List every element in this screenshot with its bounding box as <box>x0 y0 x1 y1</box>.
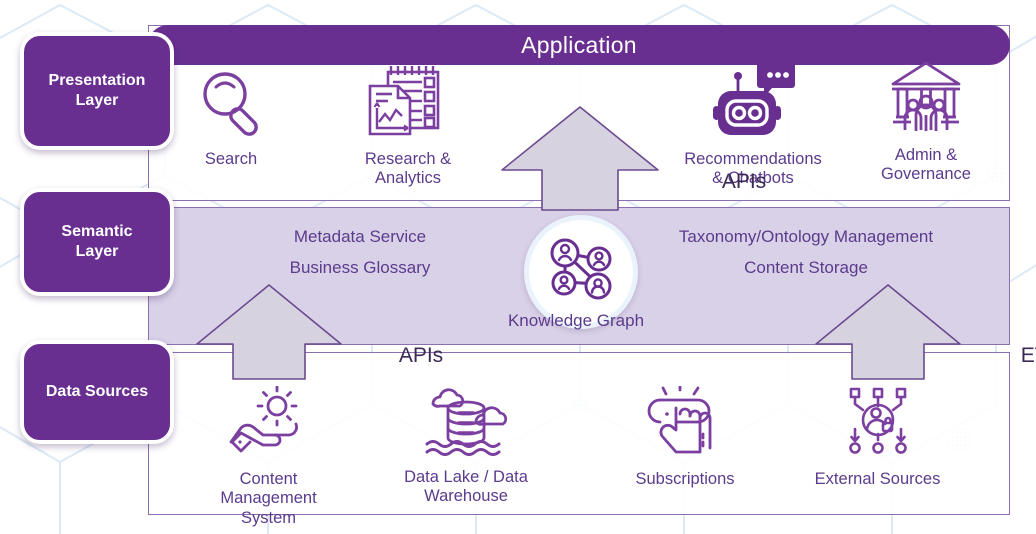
application-title: Application <box>521 32 637 59</box>
tile-admin-governance-label: Admin & Governance <box>881 146 971 185</box>
tile-external-sources[interactable]: External Sources <box>800 386 955 489</box>
etl-arrow: ETL <box>812 282 964 382</box>
tile-subscriptions-label: Subscriptions <box>635 470 734 489</box>
tile-external-sources-label: External Sources <box>815 470 941 489</box>
tile-recommendations-chatbots-label: Recommendations & Chatbots <box>684 150 822 189</box>
tile-data-lake-warehouse-label: Data Lake / Data Warehouse <box>404 468 528 507</box>
hand-gear-icon <box>225 386 313 463</box>
tile-content-management-system-label: Content Management System <box>196 470 341 528</box>
badge-semantic-label: Semantic Layer <box>61 222 132 262</box>
tile-research-analytics-label: Research & Analytics <box>365 150 451 189</box>
semantic-item-business-glossary: Business Glossary <box>200 258 520 278</box>
badge-data-sources: Data Sources <box>20 340 174 444</box>
badge-presentation-label: Presentation Layer <box>49 71 146 111</box>
tile-recommendations-chatbots[interactable]: Recommendations & Chatbots <box>660 58 846 189</box>
tile-search[interactable]: Search <box>176 66 286 169</box>
government-building-icon <box>887 58 965 139</box>
knowledge-graph-icon <box>543 232 619 313</box>
tile-data-lake-warehouse[interactable]: Data Lake / Data Warehouse <box>392 386 540 507</box>
diagram-canvas: Application Presentation Layer Semantic … <box>0 0 1036 534</box>
tile-research-analytics[interactable]: Research & Analytics <box>343 62 473 189</box>
magnifier-icon <box>196 66 266 143</box>
hand-click-toggle-icon <box>644 386 726 463</box>
semantic-item-taxonomy-ontology-management: Taxonomy/Ontology Management <box>636 227 976 247</box>
badge-presentation-layer: Presentation Layer <box>20 32 174 150</box>
apis-semantic-arrow: APIs <box>193 282 345 382</box>
knowledge-graph-label: Knowledge Graph <box>450 311 702 331</box>
tile-search-label: Search <box>205 150 257 169</box>
external-network-icon <box>840 386 916 463</box>
tile-content-management-system[interactable]: Content Management System <box>196 386 341 528</box>
apis-presentation-arrow: APIs <box>498 104 662 212</box>
badge-data-sources-label: Data Sources <box>46 382 148 402</box>
tile-admin-governance[interactable]: Admin & Governance <box>856 58 996 185</box>
robot-chat-icon <box>708 58 798 143</box>
semantic-item-metadata-service: Metadata Service <box>200 227 520 247</box>
report-analytics-icon <box>364 62 452 143</box>
semantic-item-content-storage: Content Storage <box>636 258 976 278</box>
badge-semantic-layer: Semantic Layer <box>20 188 174 296</box>
tile-subscriptions[interactable]: Subscriptions <box>612 386 758 489</box>
data-lake-icon <box>421 386 511 461</box>
